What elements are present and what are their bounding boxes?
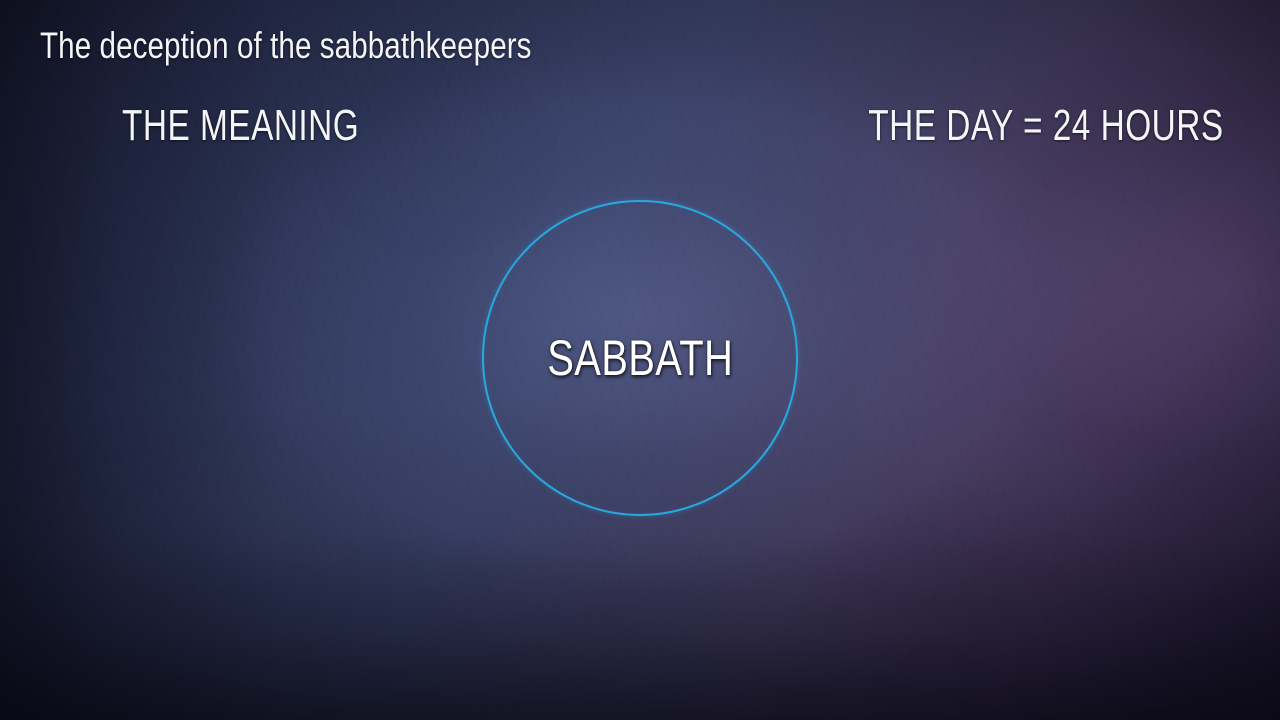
circle-label: SABBATH bbox=[482, 330, 798, 386]
circle-label-text: SABBATH bbox=[547, 330, 733, 386]
presentation-slide: The deception of the sabbathkeepers THE … bbox=[0, 0, 1280, 720]
heading-the-meaning: THE MEANING bbox=[122, 100, 359, 152]
slide-title: The deception of the sabbathkeepers bbox=[40, 24, 532, 68]
sabbath-circle-diagram: SABBATH bbox=[482, 200, 798, 516]
heading-the-day: THE DAY = 24 HOURS bbox=[869, 100, 1224, 152]
